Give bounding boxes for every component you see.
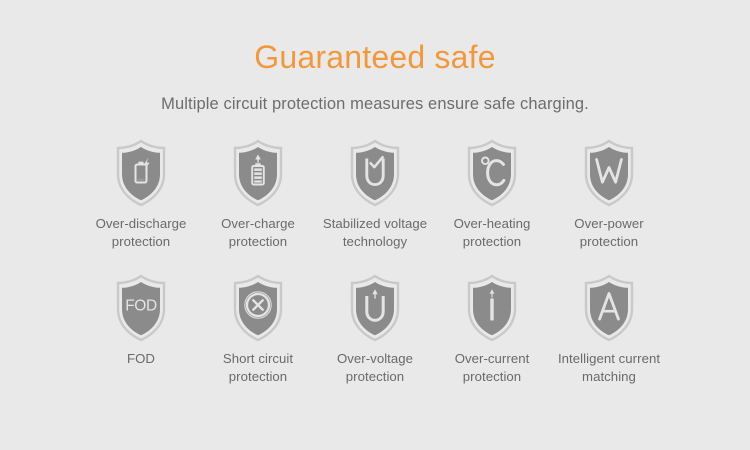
feature-label: Over-discharge protection: [96, 215, 187, 251]
shield-fod-icon: FOD: [112, 273, 170, 343]
feature-label-line2: protection: [229, 369, 287, 384]
feature-label-line1: Over-discharge: [96, 216, 187, 231]
shield-battery-full-arrow-up-icon: [229, 138, 287, 208]
feature-label: Over-heating protection: [454, 215, 531, 251]
feature-label-line1: Over-charge: [221, 216, 295, 231]
feature-label-line1: Over-current: [455, 351, 530, 366]
feature-row-2: FOD FOD: [88, 273, 662, 386]
banner-header: Guaranteed safe Multiple circuit protect…: [0, 0, 750, 114]
feature-item-intelligent-current-matching: Intelligent current matching: [556, 273, 662, 386]
feature-item-over-charge: Over-charge protection: [205, 138, 311, 251]
shield-circle-x-icon: [229, 273, 287, 343]
feature-item-over-heating: Over-heating protection: [439, 138, 545, 251]
feature-item-over-power: Over-power protection: [556, 138, 662, 251]
feature-label: Over-power protection: [574, 215, 643, 251]
shield-battery-low-bolt-icon: [112, 138, 170, 208]
feature-label-line1: Over-voltage: [337, 351, 413, 366]
feature-label: Over-current protection: [455, 350, 530, 386]
feature-label-line1: Over-power: [574, 216, 643, 231]
feature-item-fod: FOD FOD: [88, 273, 194, 368]
feature-label: Intelligent current matching: [558, 350, 660, 386]
feature-label-line1: Intelligent current: [558, 351, 660, 366]
feature-label: Over-voltage protection: [337, 350, 413, 386]
feature-label: FOD: [127, 350, 155, 368]
feature-label-line2: protection: [463, 369, 521, 384]
feature-row-1: Over-discharge protection: [88, 138, 662, 251]
promo-banner: Guaranteed safe Multiple circuit protect…: [0, 0, 750, 450]
svg-text:FOD: FOD: [125, 298, 157, 315]
feature-item-stabilized-voltage: Stabilized voltage technology: [322, 138, 428, 251]
feature-item-over-current: Over-current protection: [439, 273, 545, 386]
feature-label-line2: protection: [112, 234, 170, 249]
feature-item-short-circuit: Short circuit protection: [205, 273, 311, 386]
feature-label-line2: protection: [580, 234, 638, 249]
feature-label-line2: technology: [343, 234, 407, 249]
page-title: Guaranteed safe: [0, 38, 750, 76]
shield-u-check-icon: [346, 138, 404, 208]
feature-item-over-voltage: Over-voltage protection: [322, 273, 428, 386]
feature-label: Short circuit protection: [223, 350, 293, 386]
shield-letter-w-icon: [580, 138, 638, 208]
feature-label-line1: Short circuit: [223, 351, 293, 366]
feature-label-line1: Stabilized voltage: [323, 216, 427, 231]
feature-item-over-discharge: Over-discharge protection: [88, 138, 194, 251]
feature-label-line1: Over-heating: [454, 216, 531, 231]
feature-grid: Over-discharge protection: [0, 138, 750, 386]
feature-label-line2: matching: [582, 369, 636, 384]
shield-letter-a-icon: [580, 273, 638, 343]
shield-celsius-icon: [463, 138, 521, 208]
feature-label-line2: protection: [346, 369, 404, 384]
feature-label-line2: protection: [463, 234, 521, 249]
shield-u-arrow-up-icon: [346, 273, 404, 343]
page-subtitle: Multiple circuit protection measures ens…: [0, 94, 750, 114]
shield-i-arrow-up-icon: [463, 273, 521, 343]
feature-label: Stabilized voltage technology: [323, 215, 427, 251]
feature-label: Over-charge protection: [221, 215, 295, 251]
feature-label-line2: protection: [229, 234, 287, 249]
feature-label-line1: FOD: [127, 351, 155, 366]
